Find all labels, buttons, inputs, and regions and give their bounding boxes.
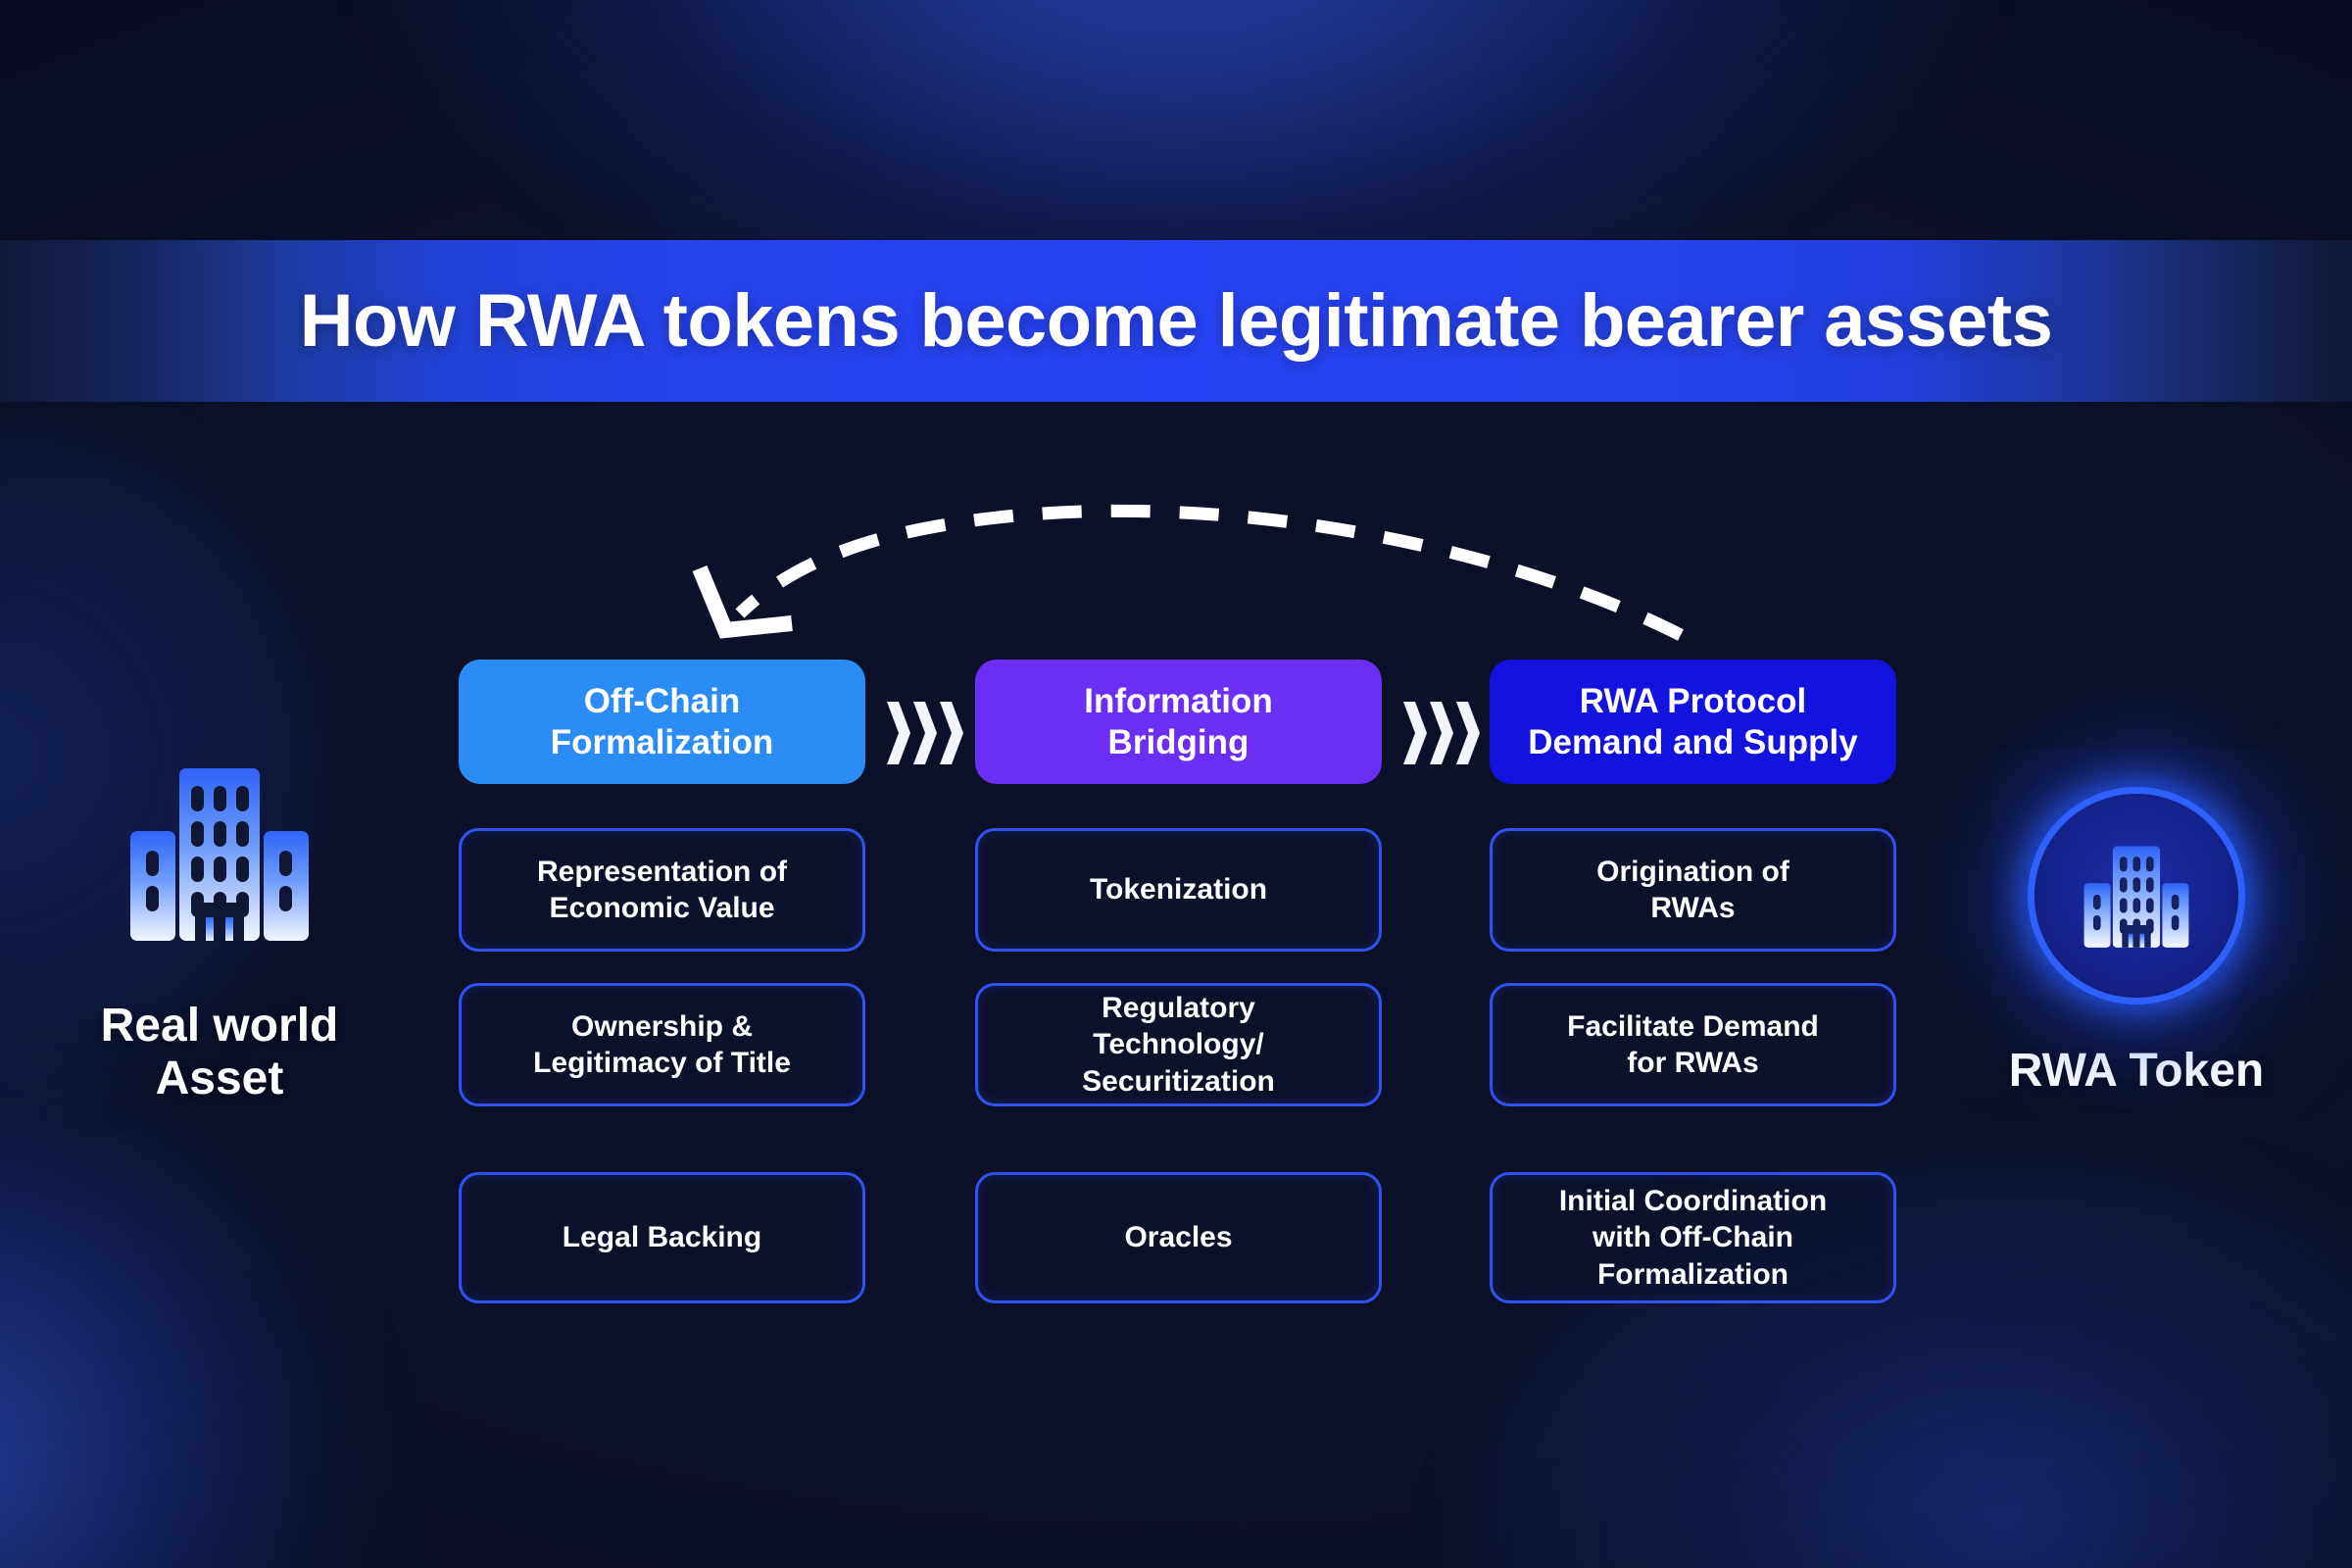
sub-item-box[interactable]: Initial Coordination with Off-Chain Form… <box>1490 1172 1896 1303</box>
sub-item-label: Representation of Economic Value <box>537 854 787 926</box>
chevron-right-icon <box>1456 702 1480 764</box>
sub-item-label: Oracles <box>1124 1219 1232 1255</box>
sub-item-label: Initial Coordination with Off-Chain Form… <box>1559 1183 1827 1293</box>
sub-item-box[interactable]: Ownership & Legitimacy of Title <box>459 983 865 1106</box>
stage-label: Off-Chain Formalization <box>551 681 774 762</box>
sub-item-label: Regulatory Technology/ Securitization <box>1082 990 1275 1100</box>
stage-box-information-bridging[interactable]: Information Bridging <box>975 660 1382 784</box>
sub-item-label: Tokenization <box>1090 871 1267 907</box>
sub-item-box[interactable]: Regulatory Technology/ Securitization <box>975 983 1382 1106</box>
stage-box-off-chain-formalization[interactable]: Off-Chain Formalization <box>459 660 865 784</box>
sub-item-box[interactable]: Oracles <box>975 1172 1382 1303</box>
chevron-right-icon <box>913 702 937 764</box>
sub-item-label: Ownership & Legitimacy of Title <box>533 1008 791 1081</box>
pipeline-column-information-bridging: Information Bridging Tokenization Regula… <box>975 660 1382 784</box>
sub-item-box[interactable]: Legal Backing <box>459 1172 865 1303</box>
chevron-right-icon <box>1430 702 1453 764</box>
pipeline-column-rwa-protocol-demand-and-supply: RWA Protocol Demand and Supply Originati… <box>1490 660 1896 784</box>
stage-label: Information Bridging <box>1084 681 1272 762</box>
chevron-right-icon <box>940 702 963 764</box>
chevron-right-icon <box>1403 702 1427 764</box>
stage-box-rwa-protocol-demand-and-supply[interactable]: RWA Protocol Demand and Supply <box>1490 660 1896 784</box>
triple-chevron-right-icon <box>887 702 963 764</box>
sub-item-box[interactable]: Facilitate Demand for RWAs <box>1490 983 1896 1106</box>
sub-item-label: Legal Backing <box>563 1219 761 1255</box>
stage-label: RWA Protocol Demand and Supply <box>1528 681 1857 762</box>
pipeline: Off-Chain Formalization Representation o… <box>0 0 2352 1568</box>
sub-item-label: Origination of RWAs <box>1596 854 1789 926</box>
sub-item-box[interactable]: Representation of Economic Value <box>459 828 865 952</box>
triple-chevron-right-icon <box>1403 702 1480 764</box>
sub-item-box[interactable]: Origination of RWAs <box>1490 828 1896 952</box>
sub-item-label: Facilitate Demand for RWAs <box>1567 1008 1819 1081</box>
pipeline-column-off-chain-formalization: Off-Chain Formalization Representation o… <box>459 660 865 784</box>
chevron-right-icon <box>887 702 910 764</box>
sub-item-box[interactable]: Tokenization <box>975 828 1382 952</box>
